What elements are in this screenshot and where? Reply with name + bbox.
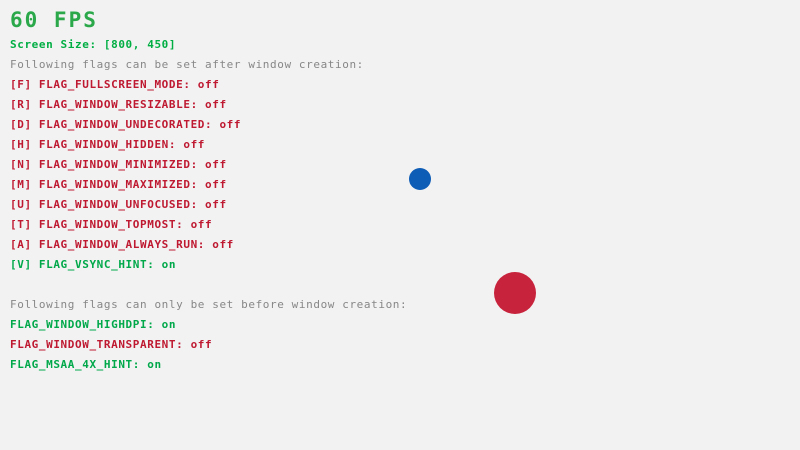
flag-row-window-unfocused[interactable]: [U] FLAG_WINDOW_UNFOCUSED: off (10, 198, 227, 211)
runtime-flags-header: Following flags can be set after window … (10, 58, 364, 71)
flag-row-fullscreen-mode[interactable]: [F] FLAG_FULLSCREEN_MODE: off (10, 78, 219, 91)
flag-row-window-topmost[interactable]: [T] FLAG_WINDOW_TOPMOST: off (10, 218, 212, 231)
screen-size-label: Screen Size: [800, 450] (10, 38, 176, 51)
blue-circle-shape (409, 168, 431, 190)
fps-counter: 60 FPS (10, 8, 98, 32)
flag-row-window-undecorated[interactable]: [D] FLAG_WINDOW_UNDECORATED: off (10, 118, 241, 131)
creation-flags-header: Following flags can only be set before w… (10, 298, 407, 311)
red-circle-shape (494, 272, 536, 314)
flag-row-window-resizable[interactable]: [R] FLAG_WINDOW_RESIZABLE: off (10, 98, 227, 111)
flag-row-vsync-hint[interactable]: [V] FLAG_VSYNC_HINT: on (10, 258, 176, 271)
raylib-window-flags-demo: 60 FPS Screen Size: [800, 450] Following… (0, 0, 800, 450)
flag-row-window-transparent: FLAG_WINDOW_TRANSPARENT: off (10, 338, 212, 351)
flag-row-window-highdpi: FLAG_WINDOW_HIGHDPI: on (10, 318, 176, 331)
flag-row-msaa-4x-hint: FLAG_MSAA_4X_HINT: on (10, 358, 162, 371)
flag-row-window-maximized[interactable]: [M] FLAG_WINDOW_MAXIMIZED: off (10, 178, 227, 191)
flag-row-window-always-run[interactable]: [A] FLAG_WINDOW_ALWAYS_RUN: off (10, 238, 234, 251)
flag-row-window-minimized[interactable]: [N] FLAG_WINDOW_MINIMIZED: off (10, 158, 227, 171)
flag-row-window-hidden[interactable]: [H] FLAG_WINDOW_HIDDEN: off (10, 138, 205, 151)
